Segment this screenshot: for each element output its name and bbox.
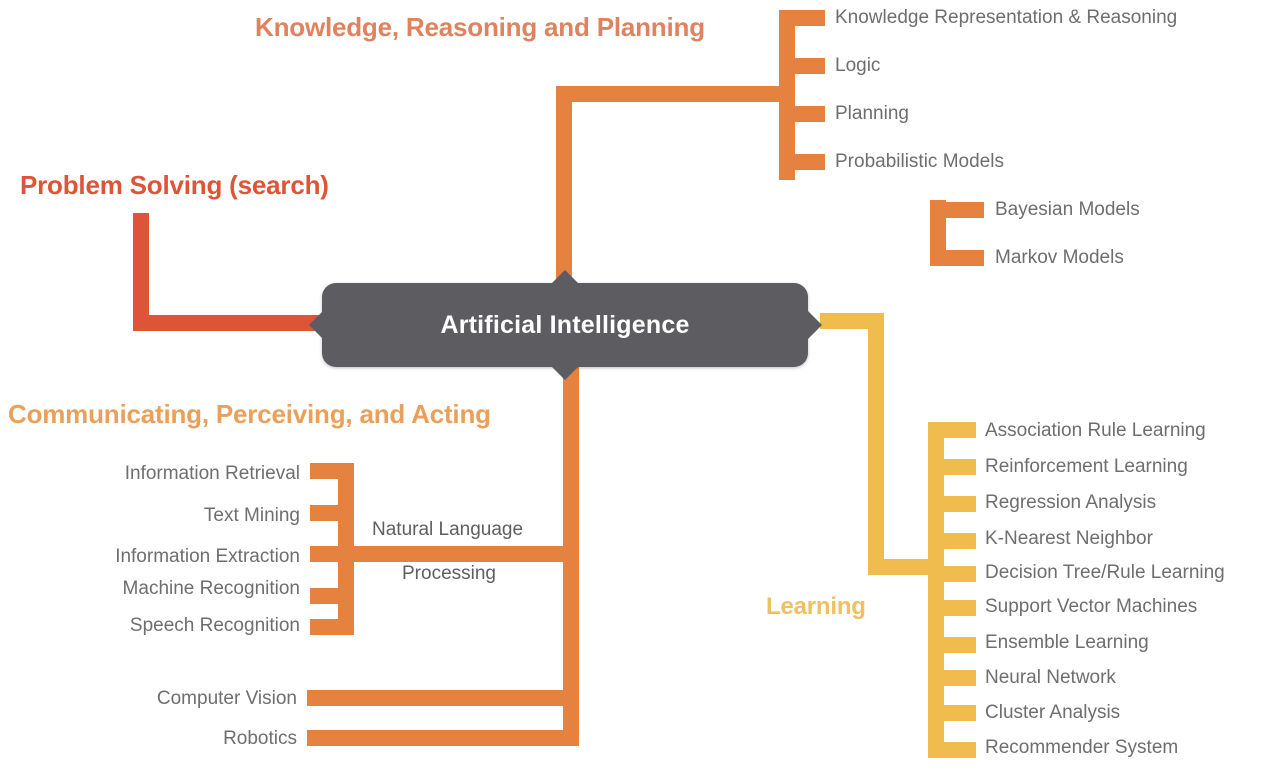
leaf-planning[interactable]: Planning (835, 103, 909, 125)
computer-vision-connector (307, 690, 571, 706)
leaf-machine-recognition[interactable]: Machine Recognition (0, 578, 300, 600)
learning-tick-7 (928, 670, 976, 686)
learning-trunk-vertical (868, 313, 884, 575)
problem-solving-trunk-horizontal (133, 315, 322, 331)
center-node-notch-left (309, 311, 323, 339)
learning-tick-3 (928, 533, 976, 549)
leaf-probabilistic-models[interactable]: Probabilistic Models (835, 151, 1004, 173)
leaf-k-nearest-neighbor[interactable]: K-Nearest Neighbor (985, 528, 1153, 550)
problem-solving-trunk-vertical (133, 213, 149, 331)
knowledge-trunk-horizontal (556, 86, 788, 102)
learning-tick-1 (928, 459, 976, 475)
nlp-tick-0 (310, 463, 354, 479)
leaf-text-mining[interactable]: Text Mining (0, 505, 300, 527)
probabilistic-sub-tick-0 (930, 202, 984, 218)
nlp-connector (338, 546, 571, 562)
robotics-connector (307, 730, 571, 746)
leaf-reinforcement-learning[interactable]: Reinforcement Learning (985, 456, 1188, 478)
leaf-neural-network[interactable]: Neural Network (985, 667, 1116, 689)
knowledge-tick-3 (779, 154, 825, 170)
node-natural-language-line2[interactable]: Processing (402, 563, 496, 585)
node-natural-language-line1[interactable]: Natural Language (372, 519, 523, 541)
center-node-label: Artificial Intelligence (440, 311, 689, 340)
leaf-knowledge-representation-reasoning[interactable]: Knowledge Representation & Reasoning (835, 7, 1177, 29)
leaf-association-rule-learning[interactable]: Association Rule Learning (985, 420, 1206, 442)
learning-tick-5 (928, 600, 976, 616)
center-node-notch-top (551, 270, 579, 284)
probabilistic-sub-tick-1 (930, 250, 984, 266)
leaf-information-extraction[interactable]: Information Extraction (0, 546, 300, 568)
knowledge-trunk-vertical (556, 86, 572, 284)
learning-tick-4 (928, 566, 976, 582)
learning-tick-8 (928, 705, 976, 721)
leaf-decision-tree-rule-learning[interactable]: Decision Tree/Rule Learning (985, 562, 1225, 584)
leaf-ensemble-learning[interactable]: Ensemble Learning (985, 632, 1149, 654)
learning-tick-2 (928, 496, 976, 512)
center-node-notch-bottom (551, 366, 579, 380)
leaf-robotics[interactable]: Robotics (0, 728, 297, 750)
nlp-tick-4 (310, 619, 354, 635)
knowledge-tick-0 (779, 10, 825, 26)
leaf-regression-analysis[interactable]: Regression Analysis (985, 492, 1156, 514)
center-node-artificial-intelligence[interactable]: Artificial Intelligence (322, 283, 808, 367)
knowledge-tick-2 (779, 106, 825, 122)
learning-tick-6 (928, 637, 976, 653)
leaf-bayesian-models[interactable]: Bayesian Models (995, 199, 1140, 221)
leaf-cluster-analysis[interactable]: Cluster Analysis (985, 702, 1120, 724)
leaf-information-retrieval[interactable]: Information Retrieval (0, 463, 300, 485)
leaf-markov-models[interactable]: Markov Models (995, 247, 1124, 269)
learning-tick-9 (928, 742, 976, 758)
nlp-tick-1 (310, 505, 354, 521)
leaf-support-vector-machines[interactable]: Support Vector Machines (985, 596, 1197, 618)
leaf-speech-recognition[interactable]: Speech Recognition (0, 615, 300, 637)
heading-problem-solving: Problem Solving (search) (20, 170, 329, 201)
leaf-logic[interactable]: Logic (835, 55, 880, 77)
knowledge-tick-1 (779, 58, 825, 74)
heading-communicating-perceiving-acting: Communicating, Perceiving, and Acting (8, 399, 491, 430)
nlp-tick-3 (310, 588, 354, 604)
leaf-recommender-system[interactable]: Recommender System (985, 737, 1178, 759)
leaf-computer-vision[interactable]: Computer Vision (0, 688, 297, 710)
learning-tick-0 (928, 422, 976, 438)
mindmap-canvas: Artificial Intelligence Knowledge, Reaso… (0, 0, 1280, 776)
heading-knowledge-reasoning-planning: Knowledge, Reasoning and Planning (255, 12, 705, 43)
center-node-notch-right (808, 311, 822, 339)
heading-learning: Learning (766, 593, 866, 621)
